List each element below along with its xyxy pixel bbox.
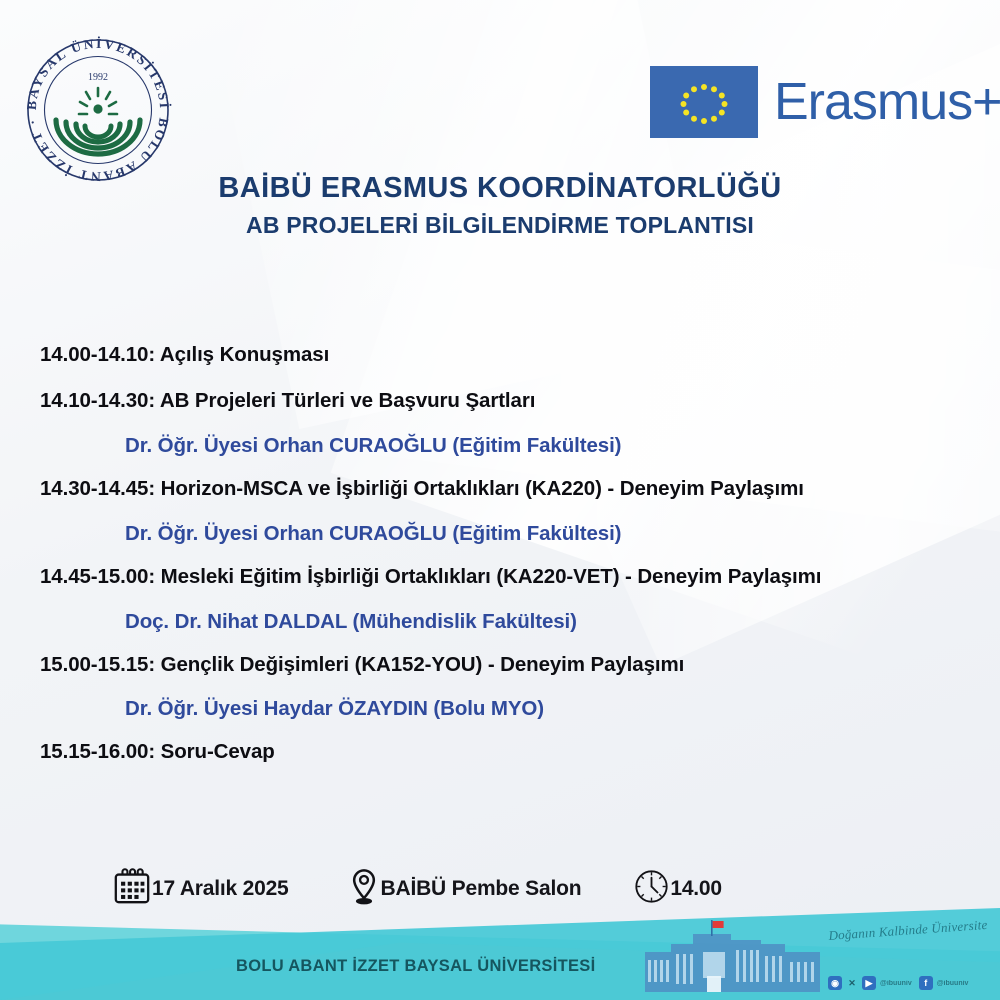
university-seal-icon: BAYSAL ÜNİVERSİTESİ BOLU ABANT İZZET · 1… — [18, 30, 178, 190]
program-item: 14.10-14.30: AB Projeleri Türleri ve Baş… — [40, 391, 960, 412]
x-twitter-icon[interactable]: ✕ — [845, 976, 859, 990]
program-item: 15.00-15.15: Gençlik Değişimleri (KA152-… — [40, 655, 960, 676]
instagram-icon[interactable]: ◉ — [828, 976, 842, 990]
page-subtitle: AB PROJELERİ BİLGİLENDİRME TOPLANTISI — [0, 212, 1000, 239]
program-list: 14.00-14.10: Açılış Konuşması 14.10-14.3… — [40, 345, 960, 787]
university-building-icon — [645, 918, 820, 992]
erasmus-wordmark: Erasmus+ — [774, 72, 1000, 132]
program-speaker: Dr. Öğr. Üyesi Orhan CURAOĞLU (Eğitim Fa… — [125, 436, 960, 457]
program-speaker: Doç. Dr. Nihat DALDAL (Mühendislik Fakül… — [125, 612, 960, 633]
youtube-icon[interactable]: ▶ — [862, 976, 876, 990]
social-links[interactable]: ◉ ✕ ▶ @ibuuniv f @ibuuniv — [828, 976, 972, 990]
svg-text:1992: 1992 — [88, 72, 108, 83]
poster-canvas: BAYSAL ÜNİVERSİTESİ BOLU ABANT İZZET · 1… — [0, 0, 1000, 1000]
program-item: 14.30-14.45: Horizon-MSCA ve İşbirliği O… — [40, 479, 960, 500]
poster-title-block: BAİBÜ ERASMUS KOORDİNATORLÜĞÜ AB PROJELE… — [0, 172, 1000, 239]
footer-brandmark: Doğanın Kalbinde Üniversite ◉ ✕ ▶ @ibuun… — [828, 928, 988, 990]
facebook-icon[interactable]: f — [919, 976, 933, 990]
program-item: 14.45-15.00: Mesleki Eğitim İşbirliği Or… — [40, 567, 960, 588]
footer-university-name: BOLU ABANT İZZET BAYSAL ÜNİVERSİTESİ — [236, 957, 595, 976]
footer-band: BOLU ABANT İZZET BAYSAL ÜNİVERSİTESİ — [0, 890, 1000, 1000]
turkish-flag-icon — [713, 921, 724, 928]
program-speaker: Dr. Öğr. Üyesi Orhan CURAOĞLU (Eğitim Fa… — [125, 524, 960, 545]
eu-flag-icon — [650, 66, 758, 138]
page-title: BAİBÜ ERASMUS KOORDİNATORLÜĞÜ — [0, 172, 1000, 205]
program-item: 14.00-14.10: Açılış Konuşması — [40, 345, 960, 366]
social-handle: @ibuuniv — [937, 980, 969, 987]
erasmus-plus-logo: Erasmus+ — [650, 58, 970, 146]
program-speaker: Dr. Öğr. Üyesi Haydar ÖZAYDIN (Bolu MYO) — [125, 699, 960, 720]
social-handle: @ibuuniv — [880, 980, 912, 987]
program-item: 15.15-16.00: Soru-Cevap — [40, 742, 960, 763]
